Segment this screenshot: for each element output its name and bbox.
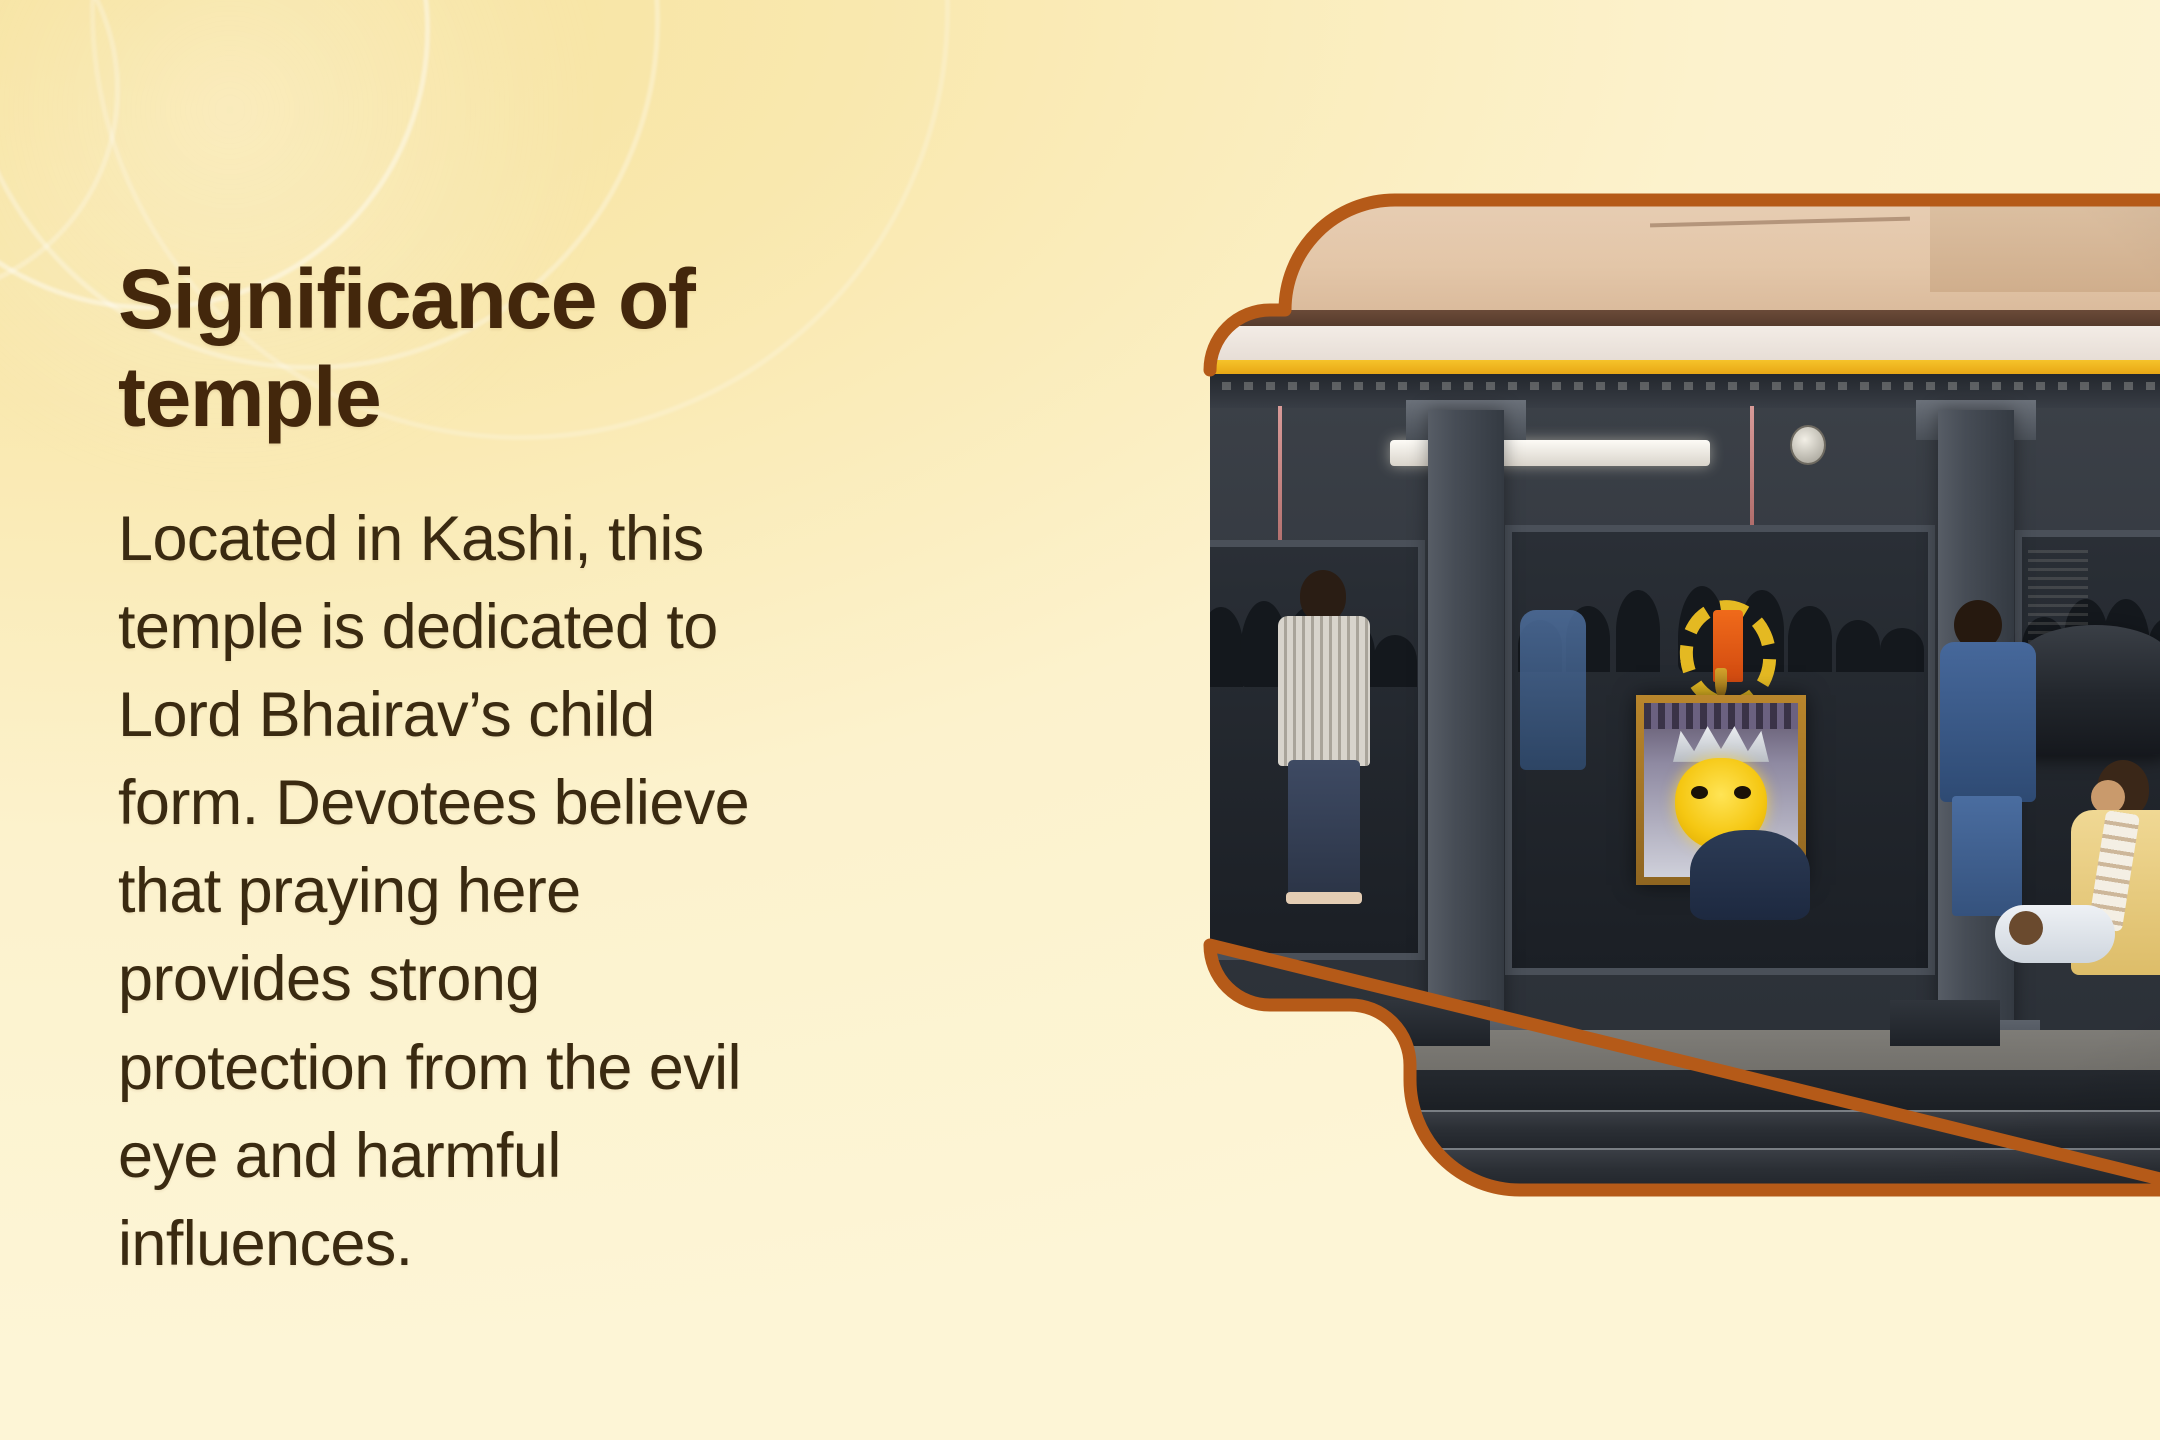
helmet-icon bbox=[1190, 1005, 1274, 1069]
marble-floor bbox=[1090, 1190, 2160, 1320]
temple-photo-frame bbox=[1090, 70, 2160, 1320]
temple-interior-scene bbox=[1090, 70, 2160, 1320]
temple-photo bbox=[1090, 70, 2160, 1320]
slide-root: Significance of temple Located in Kashi,… bbox=[0, 0, 2160, 1440]
decorative-circle-icon bbox=[0, 0, 120, 300]
body-paragraph: Located in Kashi, this temple is dedicat… bbox=[118, 495, 768, 1289]
photo-vignette bbox=[1090, 70, 2160, 1320]
page-title: Significance of temple bbox=[118, 250, 818, 447]
text-column: Significance of temple Located in Kashi,… bbox=[118, 250, 1018, 1288]
